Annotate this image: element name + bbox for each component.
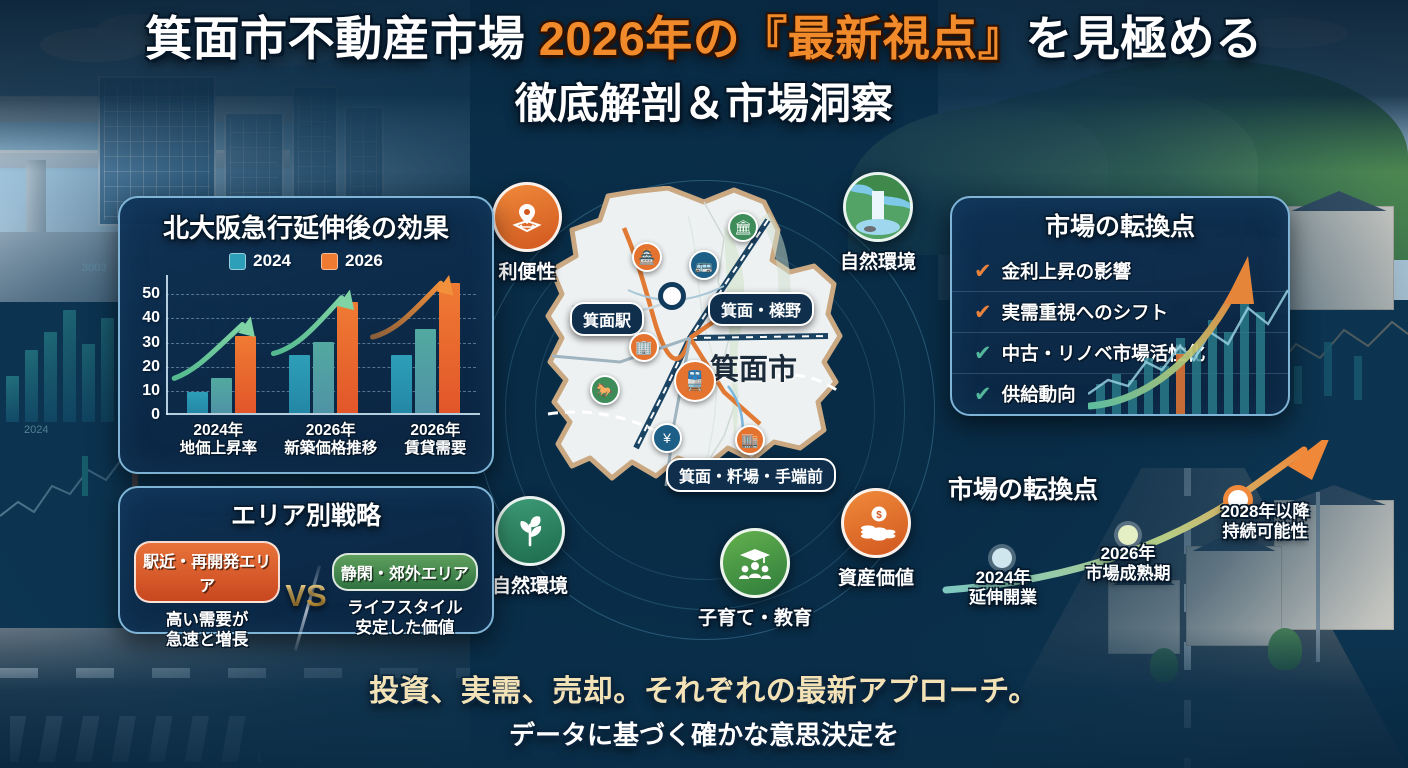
vs-comparison: 駅近・再開発エリア 高い需要が 急速と増長 VS 静閑・郊外エリア ライフスタイ… xyxy=(134,541,478,650)
poi-building-icon[interactable]: 🏢 xyxy=(629,332,659,362)
timeline-title: 市場の転換点 xyxy=(948,470,1098,506)
chart-x-labels: 2024年地価上昇率2026年新築価格推移2026年賃貸需要 xyxy=(166,422,480,459)
bubble-label: 自然環境 xyxy=(492,571,568,598)
chart-x-label-line: 新築価格推移 xyxy=(284,440,377,458)
bubble-label: 資産価値 xyxy=(838,563,914,590)
map-label-minoh-area3[interactable]: 箕面・粁場・手端前 xyxy=(666,458,836,492)
turning-point-panel: 市場の転換点 ✔金利上昇の影響✔実需重視へのシフト✔中古・リノベ市場活性化✔供給… xyxy=(950,196,1290,416)
timeline-year: 2024年 xyxy=(948,568,1058,588)
chart-y-tick: 0 xyxy=(151,406,160,424)
bubble-convenience[interactable]: 利便性 xyxy=(492,182,562,284)
map-city-name: 箕面市 xyxy=(710,346,797,388)
graduation-family-glyph xyxy=(734,542,776,584)
poi-yen-icon[interactable]: ¥ xyxy=(652,423,682,453)
chart-bar xyxy=(187,392,208,413)
chart-bar xyxy=(439,283,460,413)
timeline-caption: 市場成熟期 xyxy=(1058,564,1198,584)
poi-train-icon[interactable]: 🚆 xyxy=(674,360,716,402)
waterfall-glyph xyxy=(846,175,910,239)
area-desc-line: 高い需要が xyxy=(134,610,280,630)
page-subtitle: 徹底解剖＆市場洞察 xyxy=(0,70,1408,131)
chart-legend: 2024 2026 xyxy=(120,251,492,271)
timeline-label-2024: 2024年 延伸開業 xyxy=(948,568,1058,609)
coins-icon: $ xyxy=(841,488,911,558)
chart-x-label-line: 賃貸需要 xyxy=(404,440,466,458)
check-icon: ✔ xyxy=(974,261,992,282)
area-panel-title: エリア別戦略 xyxy=(120,496,492,532)
legend-swatch-2026 xyxy=(321,253,338,270)
area-strategy-panel: エリア別戦略 駅近・再開発エリア 高い需要が 急速と増長 VS 静閑・郊外エリア… xyxy=(118,486,494,634)
check-icon: ✔ xyxy=(974,302,992,323)
title-post: を見極める xyxy=(1025,12,1263,65)
chart-x-label-line: 2024年 xyxy=(180,422,258,440)
chart-y-tick: 50 xyxy=(142,285,160,303)
vs-column-right: 静閑・郊外エリア ライフスタイル 安定した価値 xyxy=(332,553,478,638)
bubble-label: 子育て・教育 xyxy=(698,603,812,630)
chart-bar xyxy=(289,355,310,413)
timeline-node[interactable] xyxy=(992,548,1012,568)
poi-bus-icon[interactable]: 🚌 xyxy=(689,250,719,280)
area-desc-right: ライフスタイル 安定した価値 xyxy=(332,598,478,638)
chart-x-label-line: 2026年 xyxy=(404,422,466,440)
legend-label: 2024 xyxy=(253,251,291,271)
chart-panel-title: 北大阪急行延伸後の効果 xyxy=(120,208,492,245)
bubble-label: 利便性 xyxy=(492,257,562,284)
chart-bar-group xyxy=(187,336,256,413)
check-icon: ✔ xyxy=(974,343,992,364)
chart-x-label: 2026年賃貸需要 xyxy=(404,422,466,459)
bubble-asset[interactable]: $ 資産価値 xyxy=(838,488,914,590)
chart-bars xyxy=(170,275,476,413)
title-highlight: 2026年の『最新視点』 xyxy=(539,12,1026,65)
poi-shrine-icon[interactable]: 🏯 xyxy=(632,242,662,272)
timeline-caption: 延伸開業 xyxy=(948,588,1058,608)
map-area: 箕面駅 箕面・檪野 箕面・粁場・手端前 箕面市 🚆 🏢 🏯 🚌 🏛 🐎 ¥ 🏬 … xyxy=(470,160,940,660)
bubble-label: 自然環境 xyxy=(840,247,916,274)
title-pre: 箕面市不動産市場 xyxy=(145,12,539,65)
timeline-caption: 持続可能性 xyxy=(1190,522,1340,542)
chart-axis-horizontal xyxy=(166,413,480,415)
market-timeline: 市場の転換点 2024年 延伸開業 2026年 市場成熟期 2028年以降 持続… xyxy=(940,440,1400,650)
chart-panel: 北大阪急行延伸後の効果 2024 2026 01020304050 xyxy=(118,196,494,474)
chart-y-tick: 30 xyxy=(142,334,160,352)
footer-line-1: 投資、実需、売却。それぞれの最新アプローチ。 xyxy=(0,666,1408,710)
timeline-label-2028: 2028年以降 持続可能性 xyxy=(1190,502,1340,543)
legend-label: 2026 xyxy=(345,251,383,271)
map-hub-node[interactable] xyxy=(658,282,686,310)
vs-column-left: 駅近・再開発エリア 高い需要が 急速と増長 xyxy=(134,541,280,650)
timeline-node[interactable] xyxy=(1118,525,1138,545)
legend-item: 2024 xyxy=(229,251,291,271)
chart-bar-group xyxy=(391,283,460,413)
legend-swatch-2024 xyxy=(229,253,246,270)
chart-bar xyxy=(313,342,334,413)
chart-x-label-line: 地価上昇率 xyxy=(180,440,258,458)
chart-x-label: 2026年新築価格推移 xyxy=(284,422,377,459)
area-desc-left: 高い需要が 急速と増長 xyxy=(134,610,280,650)
chart-plot-area: 01020304050 xyxy=(130,275,476,415)
area-desc-line: 安定した価値 xyxy=(332,618,478,638)
timeline-year: 2026年 xyxy=(1058,544,1198,564)
bubble-nature-left[interactable]: 自然環境 xyxy=(492,496,568,598)
chart-y-tick: 40 xyxy=(142,309,160,327)
bubble-education[interactable]: 子育て・教育 xyxy=(698,528,812,630)
area-pill-station[interactable]: 駅近・再開発エリア xyxy=(134,541,280,603)
leaf-glyph xyxy=(510,511,550,551)
coins-glyph: $ xyxy=(855,502,897,544)
area-desc-line: 急速と増長 xyxy=(134,630,280,650)
map-pin-icon xyxy=(492,182,562,252)
checklist-label: 供給動向 xyxy=(1002,381,1076,407)
vs-label: VS xyxy=(285,578,326,613)
page-title: 箕面市不動産市場 2026年の『最新視点』を見極める xyxy=(0,12,1408,66)
poi-horse-icon[interactable]: 🐎 xyxy=(590,375,620,405)
chart-bar xyxy=(337,302,358,413)
vs-divider: VS xyxy=(280,578,331,614)
map-label-minoh-station[interactable]: 箕面駅 xyxy=(570,302,644,336)
timeline-label-2026: 2026年 市場成熟期 xyxy=(1058,544,1198,585)
waterfall-icon xyxy=(843,172,913,242)
chart-bar xyxy=(235,336,256,413)
chart-bar xyxy=(211,378,232,413)
timeline-year: 2028年以降 xyxy=(1190,502,1340,522)
bubble-nature-top[interactable]: 自然環境 xyxy=(840,172,916,274)
chart-y-tick: 10 xyxy=(142,382,160,400)
poi-park-icon[interactable]: 🏛 xyxy=(728,212,758,242)
chart-bar xyxy=(415,329,436,413)
area-desc-line: ライフスタイル xyxy=(332,598,478,618)
check-icon: ✔ xyxy=(974,384,992,405)
turning-point-mini-chart xyxy=(1088,234,1288,414)
chart-y-tick: 20 xyxy=(142,358,160,376)
chart-x-label-line: 2026年 xyxy=(284,422,377,440)
footer-line-2: データに基づく確かな意思決定を xyxy=(0,715,1408,752)
legend-item: 2026 xyxy=(321,251,383,271)
map-label-minoh-kunugino[interactable]: 箕面・檪野 xyxy=(708,292,814,326)
chart-bar xyxy=(391,355,412,413)
chart-y-axis: 01020304050 xyxy=(130,275,164,415)
poi-store-icon[interactable]: 🏬 xyxy=(735,425,765,455)
title-block: 箕面市不動産市場 2026年の『最新視点』を見極める 徹底解剖＆市場洞察 xyxy=(0,12,1408,131)
map-pin-glyph xyxy=(508,198,546,236)
infographic-canvas: 3003 2024 箕面市不動産市場 2026年の『最新視点』を見極める 徹底解… xyxy=(0,0,1408,768)
leaf-icon xyxy=(495,496,565,566)
graduation-family-icon xyxy=(720,528,790,598)
svg-text:$: $ xyxy=(876,510,882,521)
chart-x-label: 2024年地価上昇率 xyxy=(180,422,258,459)
area-pill-suburb[interactable]: 静閑・郊外エリア xyxy=(332,553,478,591)
chart-axis-vertical xyxy=(166,275,168,415)
footer-block: 投資、実需、売却。それぞれの最新アプローチ。 データに基づく確かな意思決定を xyxy=(0,666,1408,752)
chart-bar-group xyxy=(289,302,358,413)
